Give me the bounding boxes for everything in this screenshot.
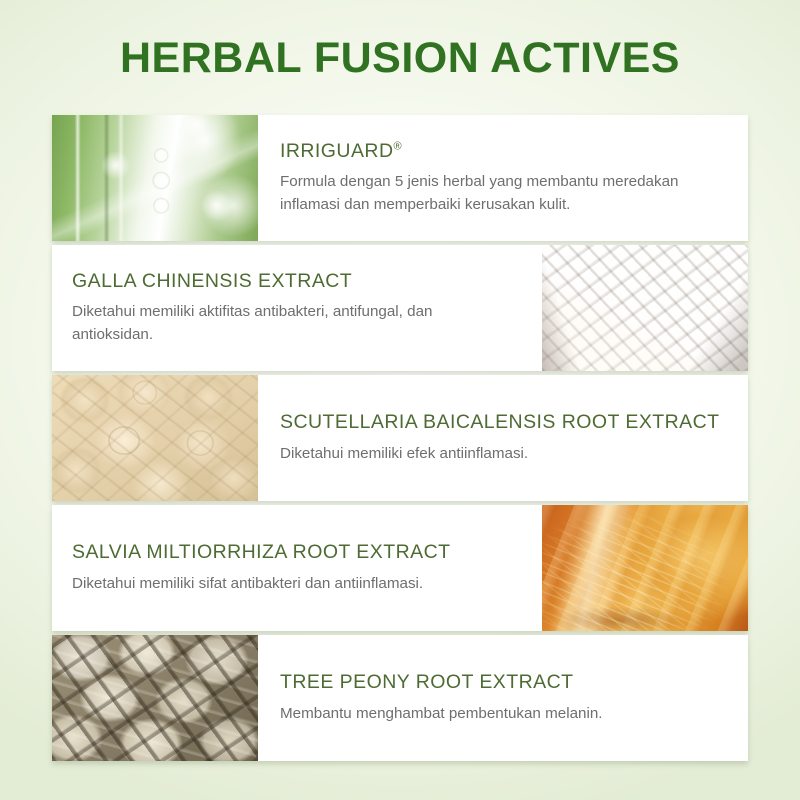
sliced-scutellaria-root-photo	[52, 375, 258, 501]
ingredient-title-irriguard: IRRIGUARD®	[280, 140, 722, 163]
ingredient-text-irriguard: IRRIGUARD® Formula dengan 5 jenis herbal…	[258, 115, 748, 241]
ingredient-description-salvia-miltiorrhiza: Diketahui memiliki sifat antibakteri dan…	[72, 572, 502, 595]
dried-galla-chinensis-flakes-photo	[542, 245, 748, 371]
lab-glassware-serum-droplets-photo	[52, 115, 258, 241]
ingredient-image-galla-chinensis	[542, 245, 748, 371]
salvia-miltiorrhiza-golden-root-photo	[542, 505, 748, 631]
ingredient-card-list: IRRIGUARD® Formula dengan 5 jenis herbal…	[52, 115, 748, 761]
page-title-container: HERBAL FUSION ACTIVES	[0, 34, 800, 83]
ingredient-image-irriguard	[52, 115, 258, 241]
ingredient-title-tree-peony: TREE PEONY ROOT EXTRACT	[280, 671, 722, 694]
ingredient-description-scutellaria-baicalensis: Diketahui memiliki efek antiinflamasi.	[280, 442, 722, 465]
ingredient-title-salvia-miltiorrhiza: SALVIA MILTIORRHIZA ROOT EXTRACT	[72, 541, 524, 564]
ingredient-image-tree-peony	[52, 635, 258, 761]
registered-trademark-icon: ®	[393, 140, 401, 152]
page-title: HERBAL FUSION ACTIVES	[120, 34, 680, 83]
ingredient-title-scutellaria-baicalensis: SCUTELLARIA BAICALENSIS ROOT EXTRACT	[280, 411, 722, 434]
ingredient-card-irriguard[interactable]: IRRIGUARD® Formula dengan 5 jenis herbal…	[52, 115, 748, 241]
ingredient-text-scutellaria-baicalensis: SCUTELLARIA BAICALENSIS ROOT EXTRACT Dik…	[258, 375, 748, 501]
ingredient-card-salvia-miltiorrhiza[interactable]: SALVIA MILTIORRHIZA ROOT EXTRACT Diketah…	[52, 505, 748, 631]
ingredient-card-tree-peony[interactable]: TREE PEONY ROOT EXTRACT Membantu mengham…	[52, 635, 748, 761]
ingredient-text-tree-peony: TREE PEONY ROOT EXTRACT Membantu mengham…	[258, 635, 748, 761]
tree-peony-root-bark-slices-photo	[52, 635, 258, 761]
herbal-actives-poster: HERBAL FUSION ACTIVES IRRIGUARD® Formula…	[0, 0, 800, 800]
ingredient-description-galla-chinensis: Diketahui memiliki aktifitas antibakteri…	[72, 300, 502, 346]
ingredient-card-galla-chinensis[interactable]: GALLA CHINENSIS EXTRACT Diketahui memili…	[52, 245, 748, 371]
ingredient-card-scutellaria-baicalensis[interactable]: SCUTELLARIA BAICALENSIS ROOT EXTRACT Dik…	[52, 375, 748, 501]
ingredient-image-scutellaria-baicalensis	[52, 375, 258, 501]
ingredient-text-galla-chinensis: GALLA CHINENSIS EXTRACT Diketahui memili…	[52, 245, 542, 371]
ingredient-description-tree-peony: Membantu menghambat pembentukan melanin.	[280, 702, 722, 725]
ingredient-description-irriguard: Formula dengan 5 jenis herbal yang memba…	[280, 170, 722, 216]
ingredient-image-salvia-miltiorrhiza	[542, 505, 748, 631]
ingredient-title-text: IRRIGUARD	[280, 140, 393, 162]
ingredient-title-galla-chinensis: GALLA CHINENSIS EXTRACT	[72, 270, 524, 293]
ingredient-text-salvia-miltiorrhiza: SALVIA MILTIORRHIZA ROOT EXTRACT Diketah…	[52, 505, 542, 631]
